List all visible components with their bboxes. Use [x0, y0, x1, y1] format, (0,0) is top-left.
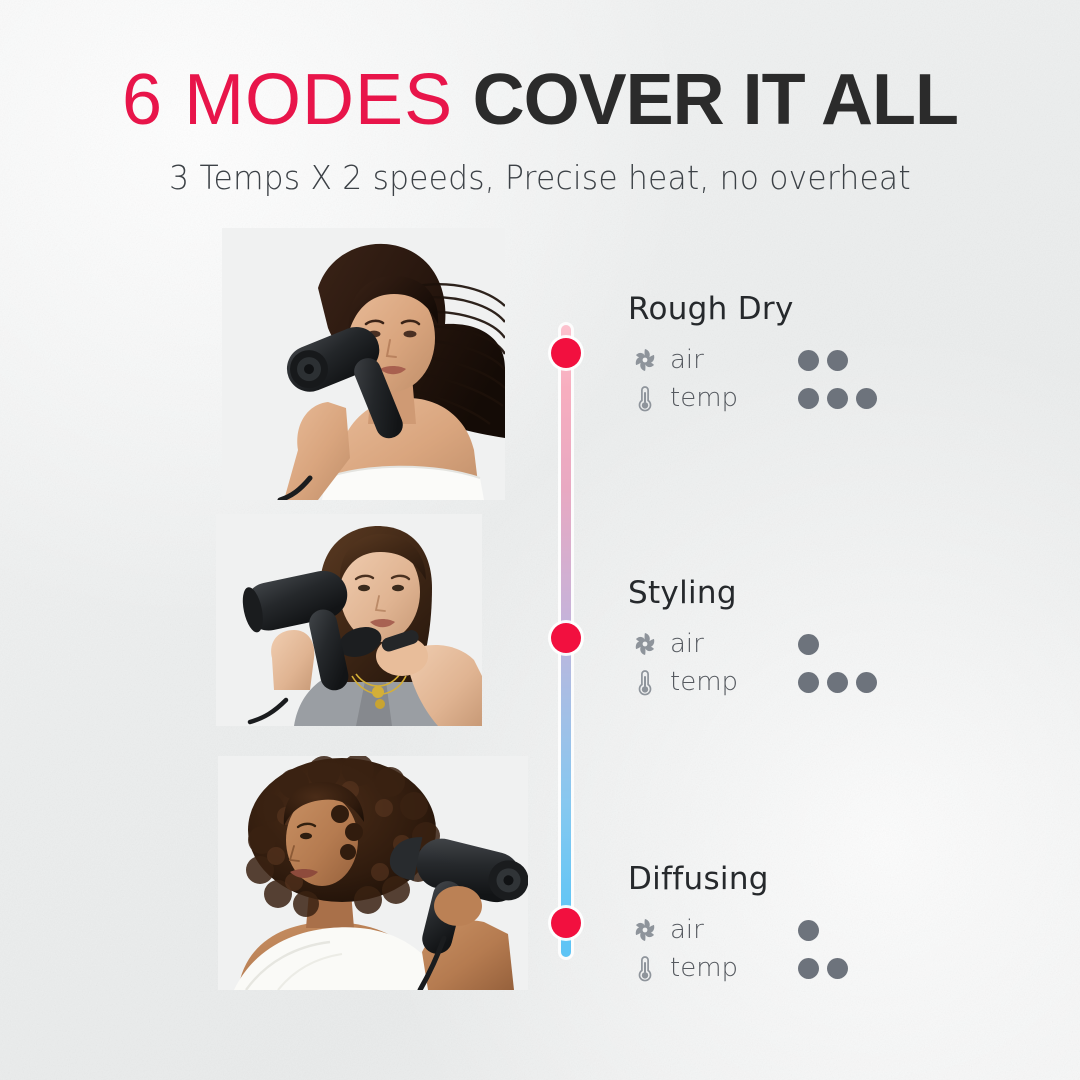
dot-filled — [798, 350, 819, 371]
subtitle: 3 Temps X 2 speeds, Precise heat, no ove… — [27, 136, 1053, 197]
fan-icon — [628, 347, 662, 373]
mode-panel-diffusing: Diffusing air — [628, 861, 1028, 987]
spec-dots-temp — [798, 958, 848, 979]
fan-icon — [628, 631, 662, 657]
dot-filled — [798, 958, 819, 979]
dot-filled — [798, 920, 819, 941]
dot-filled — [798, 388, 819, 409]
photo-styling — [216, 514, 482, 726]
thermometer-icon — [628, 953, 662, 983]
spec-row-air: air — [628, 341, 1028, 379]
spec-label-air: air — [670, 629, 798, 659]
dot-filled — [856, 672, 877, 693]
rail-marker-diffusing — [551, 908, 581, 938]
spec-row-temp: temp — [628, 379, 1028, 417]
dot-filled — [856, 388, 877, 409]
spec-label-temp: temp — [670, 667, 798, 697]
spec-label-air: air — [670, 345, 798, 375]
header: 6 MODES COVER IT ALL 3 Temps X 2 speeds,… — [0, 0, 1080, 197]
spec-row-air: air — [628, 911, 1028, 949]
photo-diffusing — [218, 756, 528, 990]
thermometer-icon — [628, 667, 662, 697]
thermometer-icon — [628, 383, 662, 413]
spec-dots-temp — [798, 672, 877, 693]
rail-marker-rough-dry — [551, 338, 581, 368]
dot-filled — [827, 388, 848, 409]
rail-marker-styling — [551, 623, 581, 653]
spec-dots-air — [798, 350, 848, 371]
spec-dots-air — [798, 634, 819, 655]
mode-title: Diffusing — [628, 861, 1028, 897]
headline-main: COVER IT ALL — [473, 60, 958, 140]
spec-label-air: air — [670, 915, 798, 945]
fan-icon — [628, 917, 662, 943]
spec-row-air: air — [628, 625, 1028, 663]
dot-filled — [827, 350, 848, 371]
spec-dots-temp — [798, 388, 877, 409]
photo-rough-dry — [222, 228, 505, 500]
dot-filled — [827, 958, 848, 979]
spec-row-temp: temp — [628, 663, 1028, 701]
spec-label-temp: temp — [670, 953, 798, 983]
dot-filled — [827, 672, 848, 693]
dot-filled — [798, 672, 819, 693]
page-title: 6 MODES COVER IT ALL — [0, 0, 1080, 136]
headline-accent: 6 MODES — [122, 60, 453, 140]
mode-panel-styling: Styling air — [628, 575, 1028, 701]
spec-dots-air — [798, 920, 819, 941]
mode-panel-rough-dry: Rough Dry air — [628, 291, 1028, 417]
spec-row-temp: temp — [628, 949, 1028, 987]
dot-filled — [798, 634, 819, 655]
mode-title: Rough Dry — [628, 291, 1028, 327]
spec-label-temp: temp — [670, 383, 798, 413]
mode-title: Styling — [628, 575, 1028, 611]
